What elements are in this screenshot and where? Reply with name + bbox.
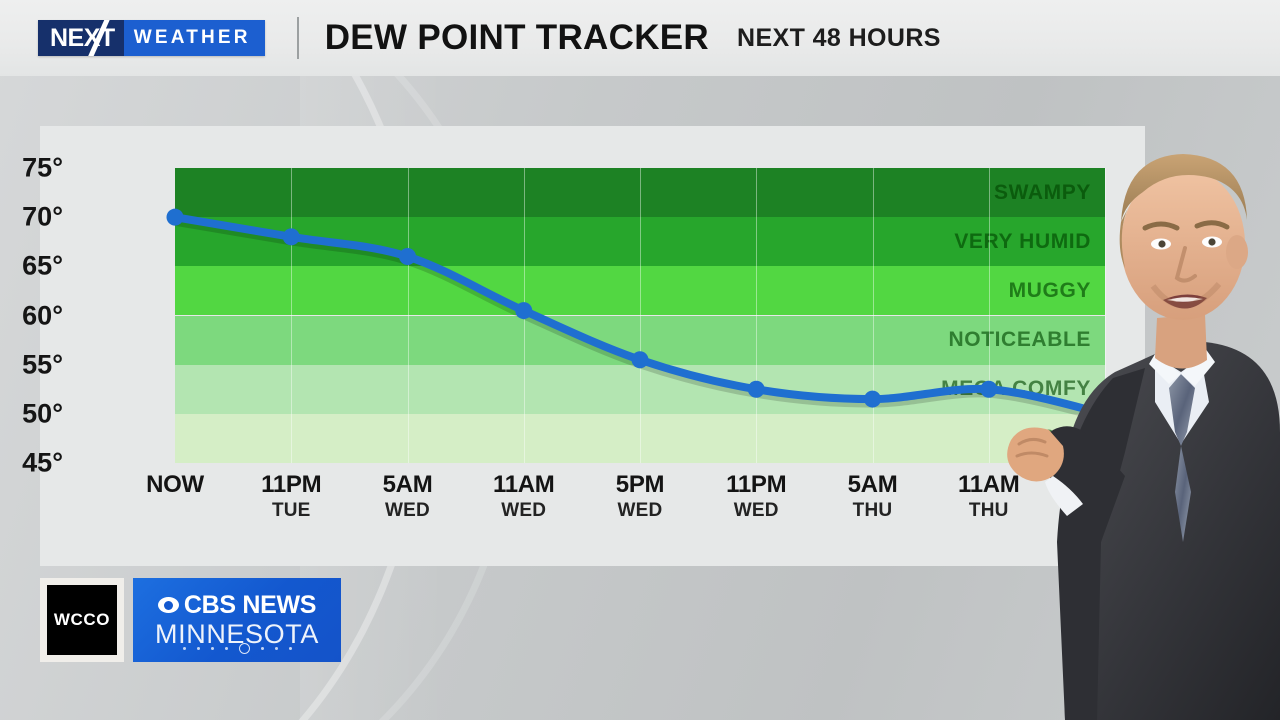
cbs-news-text: CBS NEWS xyxy=(184,591,316,620)
x-axis-tick-label: 5AMWED xyxy=(383,471,433,522)
dew-point-line-series xyxy=(175,168,1105,463)
data-point-marker xyxy=(748,381,765,398)
cbs-news-minnesota-logo: CBS NEWS MINNESOTA xyxy=(133,578,341,662)
data-point-marker xyxy=(167,209,184,226)
header-divider xyxy=(297,17,299,59)
next-weather-logo: NEXT WEATHER xyxy=(38,20,265,56)
logo-next-text: NEXT xyxy=(38,20,124,56)
branding-logos: WCCO CBS NEWS MINNESOTA xyxy=(40,578,341,662)
y-axis-tick-label: 65° xyxy=(0,251,63,282)
x-axis-tick-label: 11AMWED xyxy=(493,471,555,522)
page-subtitle: NEXT 48 HOURS xyxy=(737,24,941,53)
chart-panel: 75°70°65°60°55°50°45° SWAMPYVERY HUMIDMU… xyxy=(40,126,1145,566)
presenter-meteorologist xyxy=(1005,72,1280,720)
y-axis-tick-label: 75° xyxy=(0,153,63,184)
wcco-logo-text: WCCO xyxy=(54,610,110,630)
x-axis-tick-label: 5AMTHU xyxy=(848,471,898,522)
data-point-marker xyxy=(515,302,532,319)
x-axis-tick-label: 5PMWED xyxy=(616,471,664,522)
data-point-marker xyxy=(283,228,300,245)
header-bar: NEXT WEATHER DEW POINT TRACKER NEXT 48 H… xyxy=(0,0,1280,76)
data-point-marker xyxy=(980,381,997,398)
x-axis-tick-label: 11PMTUE xyxy=(261,471,321,522)
x-axis-tick-label: 11PMWED xyxy=(726,471,786,522)
page-title: DEW POINT TRACKER xyxy=(325,18,709,58)
cbs-news-row: CBS NEWS xyxy=(158,591,316,620)
logo-weather-text: WEATHER xyxy=(124,20,265,56)
wcco-logo-box: WCCO xyxy=(47,585,117,655)
y-axis-tick-label: 60° xyxy=(0,300,63,331)
data-point-marker xyxy=(632,351,649,368)
cbs-eye-icon xyxy=(158,597,179,613)
wcco-logo: WCCO xyxy=(40,578,124,662)
cbs-dots-decoration xyxy=(133,643,341,654)
y-axis-tick-label: 50° xyxy=(0,398,63,429)
x-axis-tick-label: NOW xyxy=(146,471,204,500)
data-point-marker xyxy=(399,248,416,265)
y-axis-tick-label: 70° xyxy=(0,202,63,233)
y-axis-tick-label: 45° xyxy=(0,448,63,479)
y-axis-tick-label: 55° xyxy=(0,349,63,380)
data-point-marker xyxy=(864,391,881,408)
chart-plot-area: SWAMPYVERY HUMIDMUGGYNOTICEABLEMEGA COMF… xyxy=(175,168,1105,463)
